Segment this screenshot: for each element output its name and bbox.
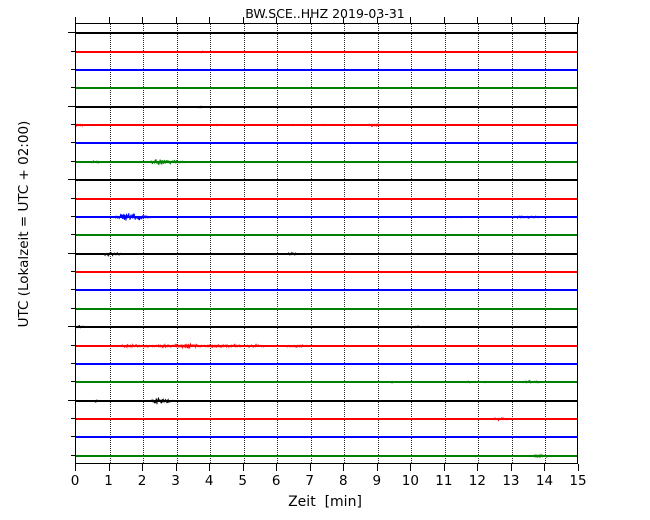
y-tick-mark xyxy=(68,253,75,254)
x-tick-mark xyxy=(477,464,478,471)
x-tick-mark xyxy=(310,464,311,471)
x-tick-label: 12 xyxy=(462,473,492,489)
x-tick-mark xyxy=(276,464,277,471)
trace-path xyxy=(76,309,578,310)
trace-path xyxy=(76,180,578,181)
trace-path xyxy=(76,397,578,404)
y-tick-mark xyxy=(68,400,75,401)
x-tick-mark xyxy=(544,464,545,471)
trace-path xyxy=(76,33,578,34)
x-tick-mark xyxy=(511,464,512,471)
trace-path xyxy=(76,143,578,144)
x-tick-label: 4 xyxy=(194,473,224,489)
x-tick-mark xyxy=(410,464,411,471)
x-tick-label: 7 xyxy=(295,473,325,489)
plot-title: BW.SCE..HHZ 2019-03-31 xyxy=(0,6,650,21)
x-tick-mark-top xyxy=(578,17,579,24)
x-axis-label: Zeit [min] xyxy=(0,494,650,510)
x-tick-label: 3 xyxy=(161,473,191,489)
trace-path xyxy=(76,159,578,164)
trace-path xyxy=(76,106,578,107)
x-tick-mark xyxy=(343,464,344,471)
x-tick-label: 13 xyxy=(496,473,526,489)
x-tick-mark xyxy=(578,464,579,471)
x-tick-label: 6 xyxy=(261,473,291,489)
x-tick-mark xyxy=(109,464,110,471)
y-tick-mark xyxy=(68,326,75,327)
y-tick-mark xyxy=(68,106,75,107)
y-tick-mark xyxy=(68,179,75,180)
x-tick-label: 0 xyxy=(60,473,90,489)
x-tick-mark xyxy=(243,464,244,471)
x-tick-mark xyxy=(176,464,177,471)
x-tick-mark xyxy=(75,464,76,471)
plot-area[interactable] xyxy=(75,23,578,464)
x-tick-label: 1 xyxy=(94,473,124,489)
trace-path xyxy=(76,252,578,255)
trace-path xyxy=(76,343,578,347)
x-tick-label: 2 xyxy=(127,473,157,489)
traces-layer xyxy=(76,24,577,463)
seismic-trace xyxy=(76,441,578,464)
axes-frame xyxy=(75,23,578,464)
x-tick-label: 15 xyxy=(563,473,593,489)
x-tick-label: 8 xyxy=(328,473,358,489)
seismogram-figure: BW.SCE..HHZ 2019-03-31 UTC (Lokalzeit = … xyxy=(0,0,650,520)
x-tick-label: 9 xyxy=(362,473,392,489)
x-tick-label: 10 xyxy=(395,473,425,489)
x-tick-mark xyxy=(142,464,143,471)
x-tick-mark xyxy=(444,464,445,471)
x-tick-mark xyxy=(377,464,378,471)
x-tick-label: 11 xyxy=(429,473,459,489)
trace-path xyxy=(76,88,578,89)
y-axis-label: UTC (Lokalzeit = UTC + 02:00) xyxy=(16,4,32,444)
y-tick-mark xyxy=(68,32,75,33)
x-tick-label: 5 xyxy=(228,473,258,489)
x-tick-mark xyxy=(209,464,210,471)
x-tick-label: 14 xyxy=(529,473,559,489)
